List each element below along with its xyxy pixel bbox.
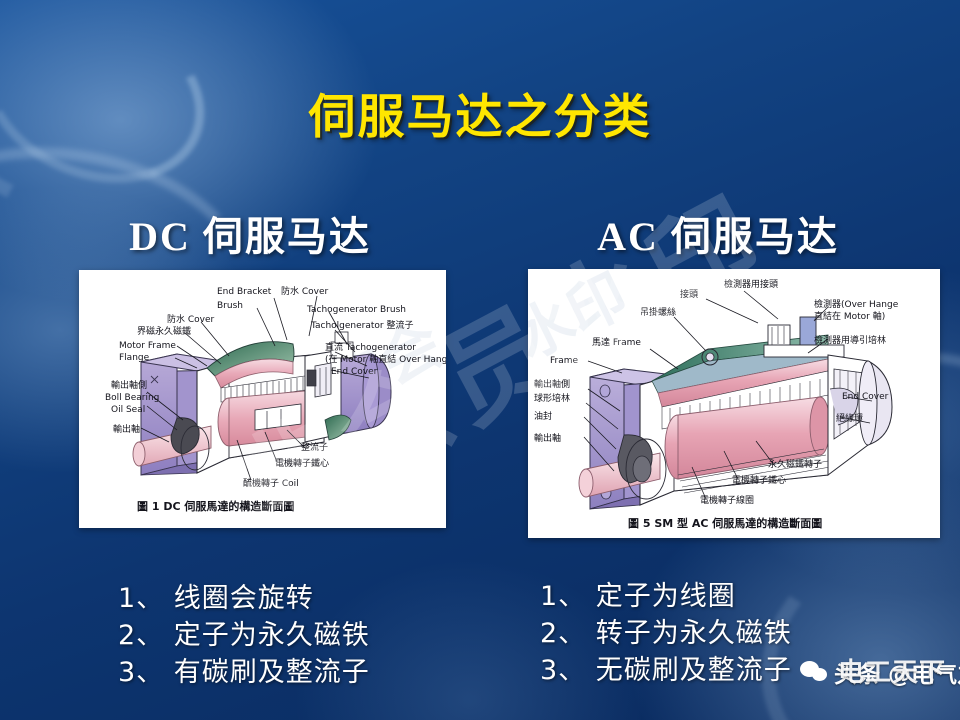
ac-label-1: 檢測器用接頭 [724, 278, 778, 290]
ac-label-12: 絕緣環 [836, 412, 863, 424]
bullet-item: 2、 定子为永久磁铁 [118, 617, 370, 654]
figure-panel-ac: 水印 [528, 269, 940, 538]
ac-label-13: 輸出軸 [534, 432, 561, 444]
dc-label-15: 輸出軸 [113, 423, 140, 435]
dc-label-6: 界磁永久磁鐵 [137, 325, 191, 337]
dc-label-17: 電機轉子鐵心 [275, 457, 329, 469]
ac-label-11: 油封 [534, 410, 552, 422]
ac-label-15: 電機轉子鐵心 [732, 474, 786, 486]
bullet-item: 3、 无碳刷及整流子 [540, 652, 792, 689]
ac-label-3: 檢測器(Over Hange [814, 298, 899, 310]
dc-label-9: (在 Motor 軸直結 Over Hang) [325, 353, 446, 365]
ac-label-4: 直結在 Motor 軸) [814, 310, 885, 322]
dc-label-11: End Cover [331, 367, 378, 377]
dc-label-13: Boll Bearing [105, 393, 159, 403]
column-heading-dc: DC 伺服马达 [40, 204, 460, 262]
ac-label-10: End Cover [842, 392, 889, 402]
ac-motor-cutaway-diagram: 水印 [528, 269, 940, 538]
ac-label-5: 馬達 Frame [592, 336, 641, 348]
ac-figure-caption: 圖 5 SM 型 AC 伺服馬達的構造斷面圖 [628, 516, 822, 530]
bullet-list-dc: 1、 线圈会旋转 2、 定子为永久磁铁 3、 有碳刷及整流子 [118, 580, 370, 691]
svg-text:水印: 水印 [528, 269, 638, 372]
wechat-icon [800, 660, 830, 684]
bullet-item: 1、 定子为线圈 [540, 578, 792, 615]
dc-label-1: 防水 Cover [281, 285, 329, 297]
column-heading-ac: AC 伺服马达 [508, 204, 928, 262]
dc-figure-caption: 圖 1 DC 伺服馬達的構造斷面圖 [137, 499, 294, 513]
overlay-watermark: 电工天下 [838, 652, 946, 689]
dc-label-2: Brush [217, 301, 243, 311]
dc-label-12: 輸出軸側 [111, 379, 147, 391]
dc-label-10: Flange [119, 353, 150, 363]
dc-label-14: Oil Seal [111, 405, 145, 415]
ac-label-16: 電機轉子線圈 [700, 494, 754, 506]
bullet-item: 1、 线圈会旋转 [118, 580, 370, 617]
dc-label-18: 酼機轉子 Coil [243, 477, 299, 489]
ac-label-8: 輸出軸側 [534, 378, 570, 390]
bullet-list-ac: 1、 定子为线圈 2、 转子为永久磁铁 3、 无碳刷及整流子 [540, 578, 792, 689]
ac-label-7: Frame [550, 356, 579, 366]
dc-label-4: 防水 Cover [167, 313, 215, 325]
slide-canvas: 伺服马达之分类 DC 伺服马达 AC 伺服马达 [0, 0, 960, 720]
ac-label-9: 球形培林 [534, 392, 570, 404]
ac-label-2: 吊掛螺絲 [640, 306, 676, 318]
ac-label-6: 檢測器用導引培林 [814, 334, 886, 346]
dc-label-8: 直流 Tachogenerator [325, 341, 416, 353]
ac-label-0: 接頭 [680, 288, 698, 300]
dc-label-7: Motor Frame [119, 341, 176, 351]
dc-label-3: Tachogenerator Brush [306, 305, 406, 315]
figure-panel-dc: 非会 [79, 270, 446, 528]
ac-label-14: 永久磁鐵轉子 [768, 458, 822, 470]
page-title: 伺服马达之分类 [0, 78, 960, 147]
dc-label-5: Tacholgenerator 整流子 [310, 319, 414, 331]
bullet-item: 3、 有碳刷及整流子 [118, 654, 370, 691]
dc-motor-cutaway-diagram: 非会 [79, 270, 446, 528]
dc-label-16: 整流子 [301, 441, 328, 453]
bullet-item: 2、 转子为永久磁铁 [540, 615, 792, 652]
dc-label-0: End Bracket [217, 287, 272, 297]
